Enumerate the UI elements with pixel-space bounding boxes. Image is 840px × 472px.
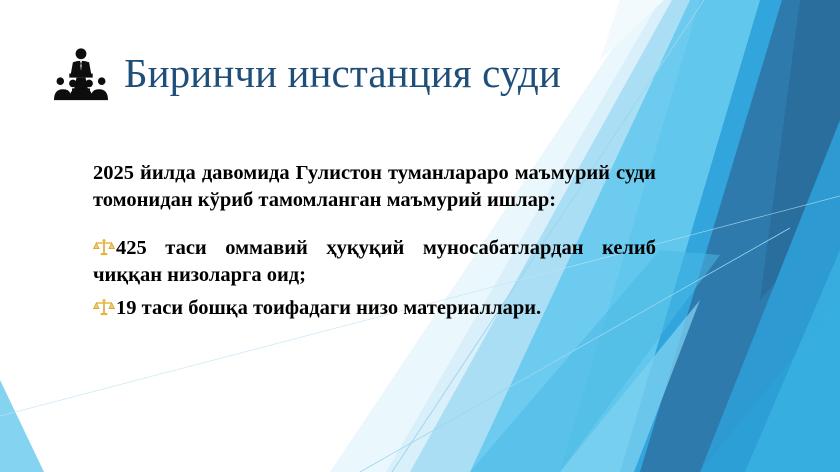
decor-shape-dark-2 (760, 0, 840, 300)
slide-body: 2025 йилда давомида Гулистон туманлараро… (93, 160, 656, 328)
list-item-text: 425 таси оммавий ҳуқуқий муносабатлардан… (93, 237, 656, 286)
scales-of-justice-icon (93, 298, 115, 317)
scales-of-justice-icon (93, 238, 115, 257)
decor-shape-dark-1 (640, 0, 840, 472)
page-title: Биринчи инстанция суди (124, 52, 561, 95)
decor-shape-bottom-left (0, 380, 44, 472)
list-item-text: 19 таси бошқа тоифадаги низо материаллар… (116, 297, 541, 319)
list-item: 425 таси оммавий ҳуқуқий муносабатлардан… (93, 235, 656, 289)
list-item: 19 таси бошқа тоифадаги низо материаллар… (93, 295, 656, 322)
decor-shape-mid-2 (700, 120, 840, 472)
slide-header: Биринчи инстанция суди (52, 38, 652, 110)
decor-shape-sky-3 (745, 250, 840, 472)
presentation-slide: Биринчи инстанция суди 2025 йилда давоми… (0, 0, 840, 472)
podium-speaker-audience-icon (52, 47, 110, 101)
intro-paragraph: 2025 йилда давомида Гулистон туманлараро… (93, 160, 656, 214)
